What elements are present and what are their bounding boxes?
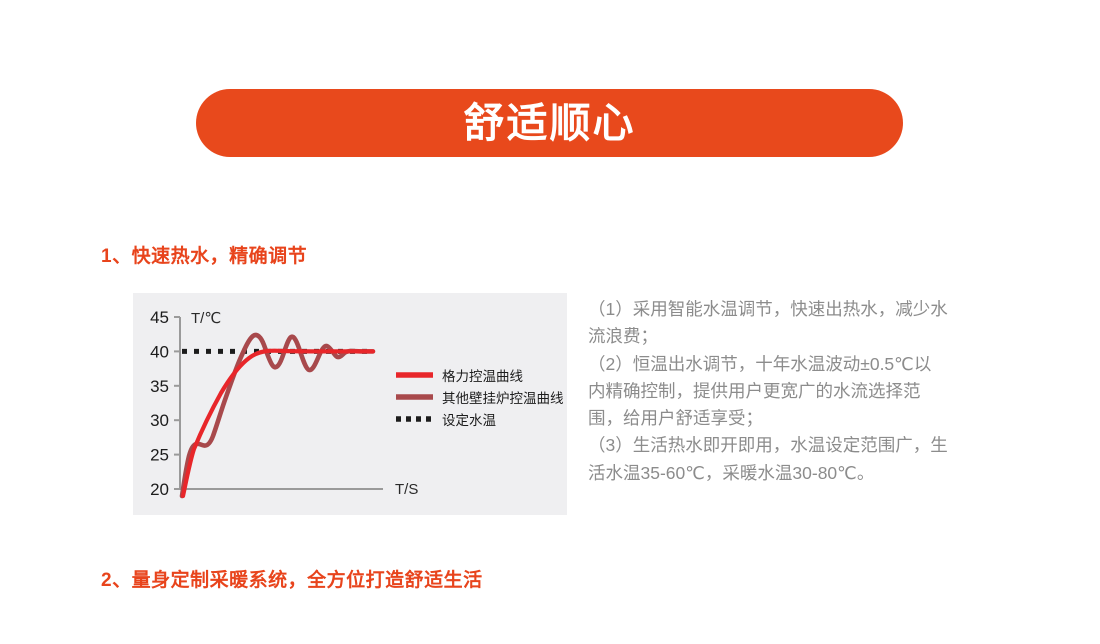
legend-label-other-boiler: 其他壁挂炉控温曲线 (442, 391, 564, 406)
description-line: 活水温35-60℃，采暖水温30-80℃。 (588, 460, 994, 487)
page-title: 舒适顺心 (464, 103, 636, 144)
x-axis-title: T/S (395, 481, 418, 498)
section-heading-2: 2、量身定制采暖系统，全方位打造舒适生活 (101, 565, 483, 592)
legend-label-setpoint: 设定水温 (442, 413, 496, 428)
description-line: （2）恒温出水调节，十年水温波动±0.5℃以 (588, 351, 994, 378)
series-gree-curve (183, 351, 373, 496)
feature-description-block: （1）采用智能水温调节，快速出热水，减少水 流浪费； （2）恒温出水调节，十年水… (588, 296, 994, 487)
y-tick-label-20: 20 (150, 480, 169, 499)
y-tick-label-45: 45 (150, 308, 169, 327)
description-line: 流浪费； (588, 323, 994, 350)
description-line: （3）生活热水即开即用，水温设定范围广，生 (588, 432, 994, 459)
temperature-control-chart: 20 25 30 35 40 45 T/℃ T/S 格力控温曲线 其他壁挂炉控温… (133, 293, 567, 515)
chart-svg: 20 25 30 35 40 45 T/℃ T/S 格力控温曲线 其他壁挂炉控温… (133, 293, 567, 515)
y-tick-label-25: 25 (150, 446, 169, 465)
y-tick-label-40: 40 (150, 342, 169, 361)
title-banner: 舒适顺心 (196, 89, 903, 157)
y-axis-title: T/℃ (191, 310, 221, 327)
description-line: （1）采用智能水温调节，快速出热水，减少水 (588, 296, 994, 323)
legend-label-gree: 格力控温曲线 (442, 369, 523, 384)
y-tick-label-35: 35 (150, 377, 169, 396)
description-line: 内精确控制，提供用户更宽广的水流选择范 (588, 378, 994, 405)
section-heading-1: 1、快速热水，精确调节 (101, 241, 307, 268)
y-tick-label-30: 30 (150, 411, 169, 430)
description-line: 围，给用户舒适享受； (588, 405, 994, 432)
chart-legend: 格力控温曲线 其他壁挂炉控温曲线 设定水温 (396, 369, 564, 428)
